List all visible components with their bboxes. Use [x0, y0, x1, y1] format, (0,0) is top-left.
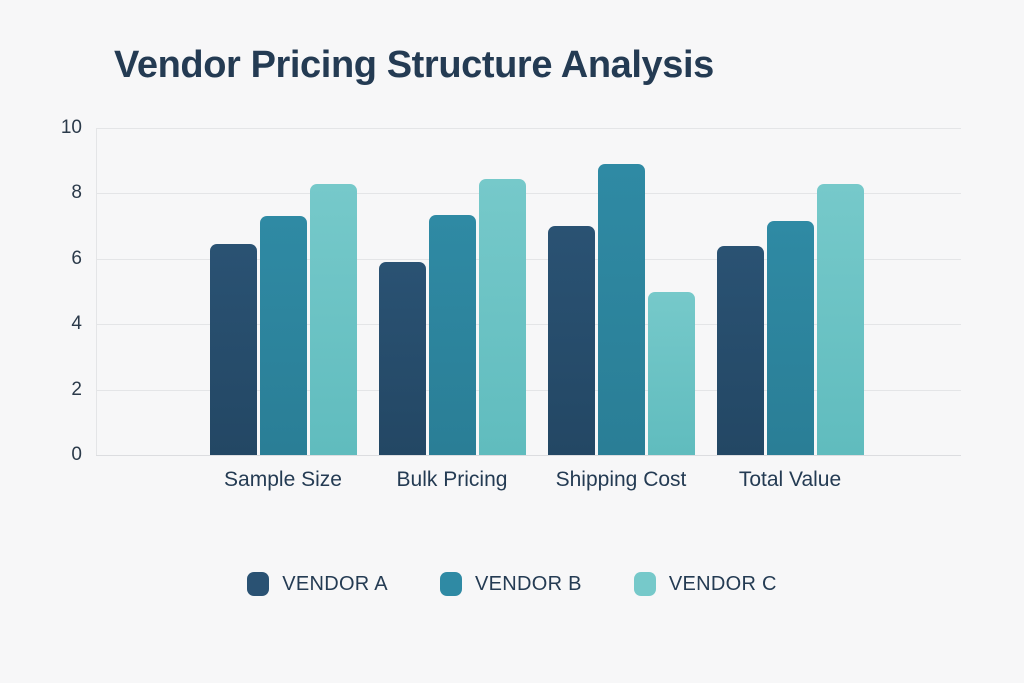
- x-axis-category-label: Shipping Cost: [556, 468, 687, 492]
- chart-page: Vendor Pricing Structure Analysis 024681…: [0, 0, 1024, 683]
- legend-label: VENDOR B: [475, 573, 582, 596]
- legend-swatch-icon: [440, 572, 462, 596]
- bar: [260, 216, 307, 455]
- legend-label: VENDOR C: [669, 573, 777, 596]
- bar: [767, 221, 814, 455]
- legend-item[interactable]: VENDOR B: [440, 572, 582, 596]
- bar: [310, 184, 357, 455]
- bar: [598, 164, 645, 455]
- x-axis-category-label: Bulk Pricing: [397, 468, 508, 492]
- legend-label: VENDOR A: [282, 573, 388, 596]
- bars-layer: [96, 128, 961, 455]
- gridline: [96, 455, 961, 456]
- legend-item[interactable]: VENDOR A: [247, 572, 388, 596]
- legend-swatch-icon: [634, 572, 656, 596]
- bar: [210, 244, 257, 455]
- y-axis-tick-label: 8: [22, 182, 82, 204]
- legend-swatch-icon: [247, 572, 269, 596]
- y-axis-tick-label: 6: [22, 248, 82, 270]
- bar: [648, 292, 695, 456]
- y-axis-tick-label: 2: [22, 379, 82, 401]
- bar: [548, 226, 595, 455]
- x-axis-category-label: Sample Size: [224, 468, 342, 492]
- y-axis-tick-label: 10: [22, 117, 82, 139]
- bar: [379, 262, 426, 455]
- chart-legend: VENDOR AVENDOR BVENDOR C: [0, 572, 1024, 596]
- y-axis-tick-label: 4: [22, 313, 82, 335]
- bar: [429, 215, 476, 455]
- bar: [479, 179, 526, 455]
- x-axis-category-label: Total Value: [739, 468, 841, 492]
- bar: [817, 184, 864, 455]
- y-axis-tick-label: 0: [22, 444, 82, 466]
- legend-item[interactable]: VENDOR C: [634, 572, 777, 596]
- bar: [717, 246, 764, 455]
- page-title: Vendor Pricing Structure Analysis: [114, 44, 714, 87]
